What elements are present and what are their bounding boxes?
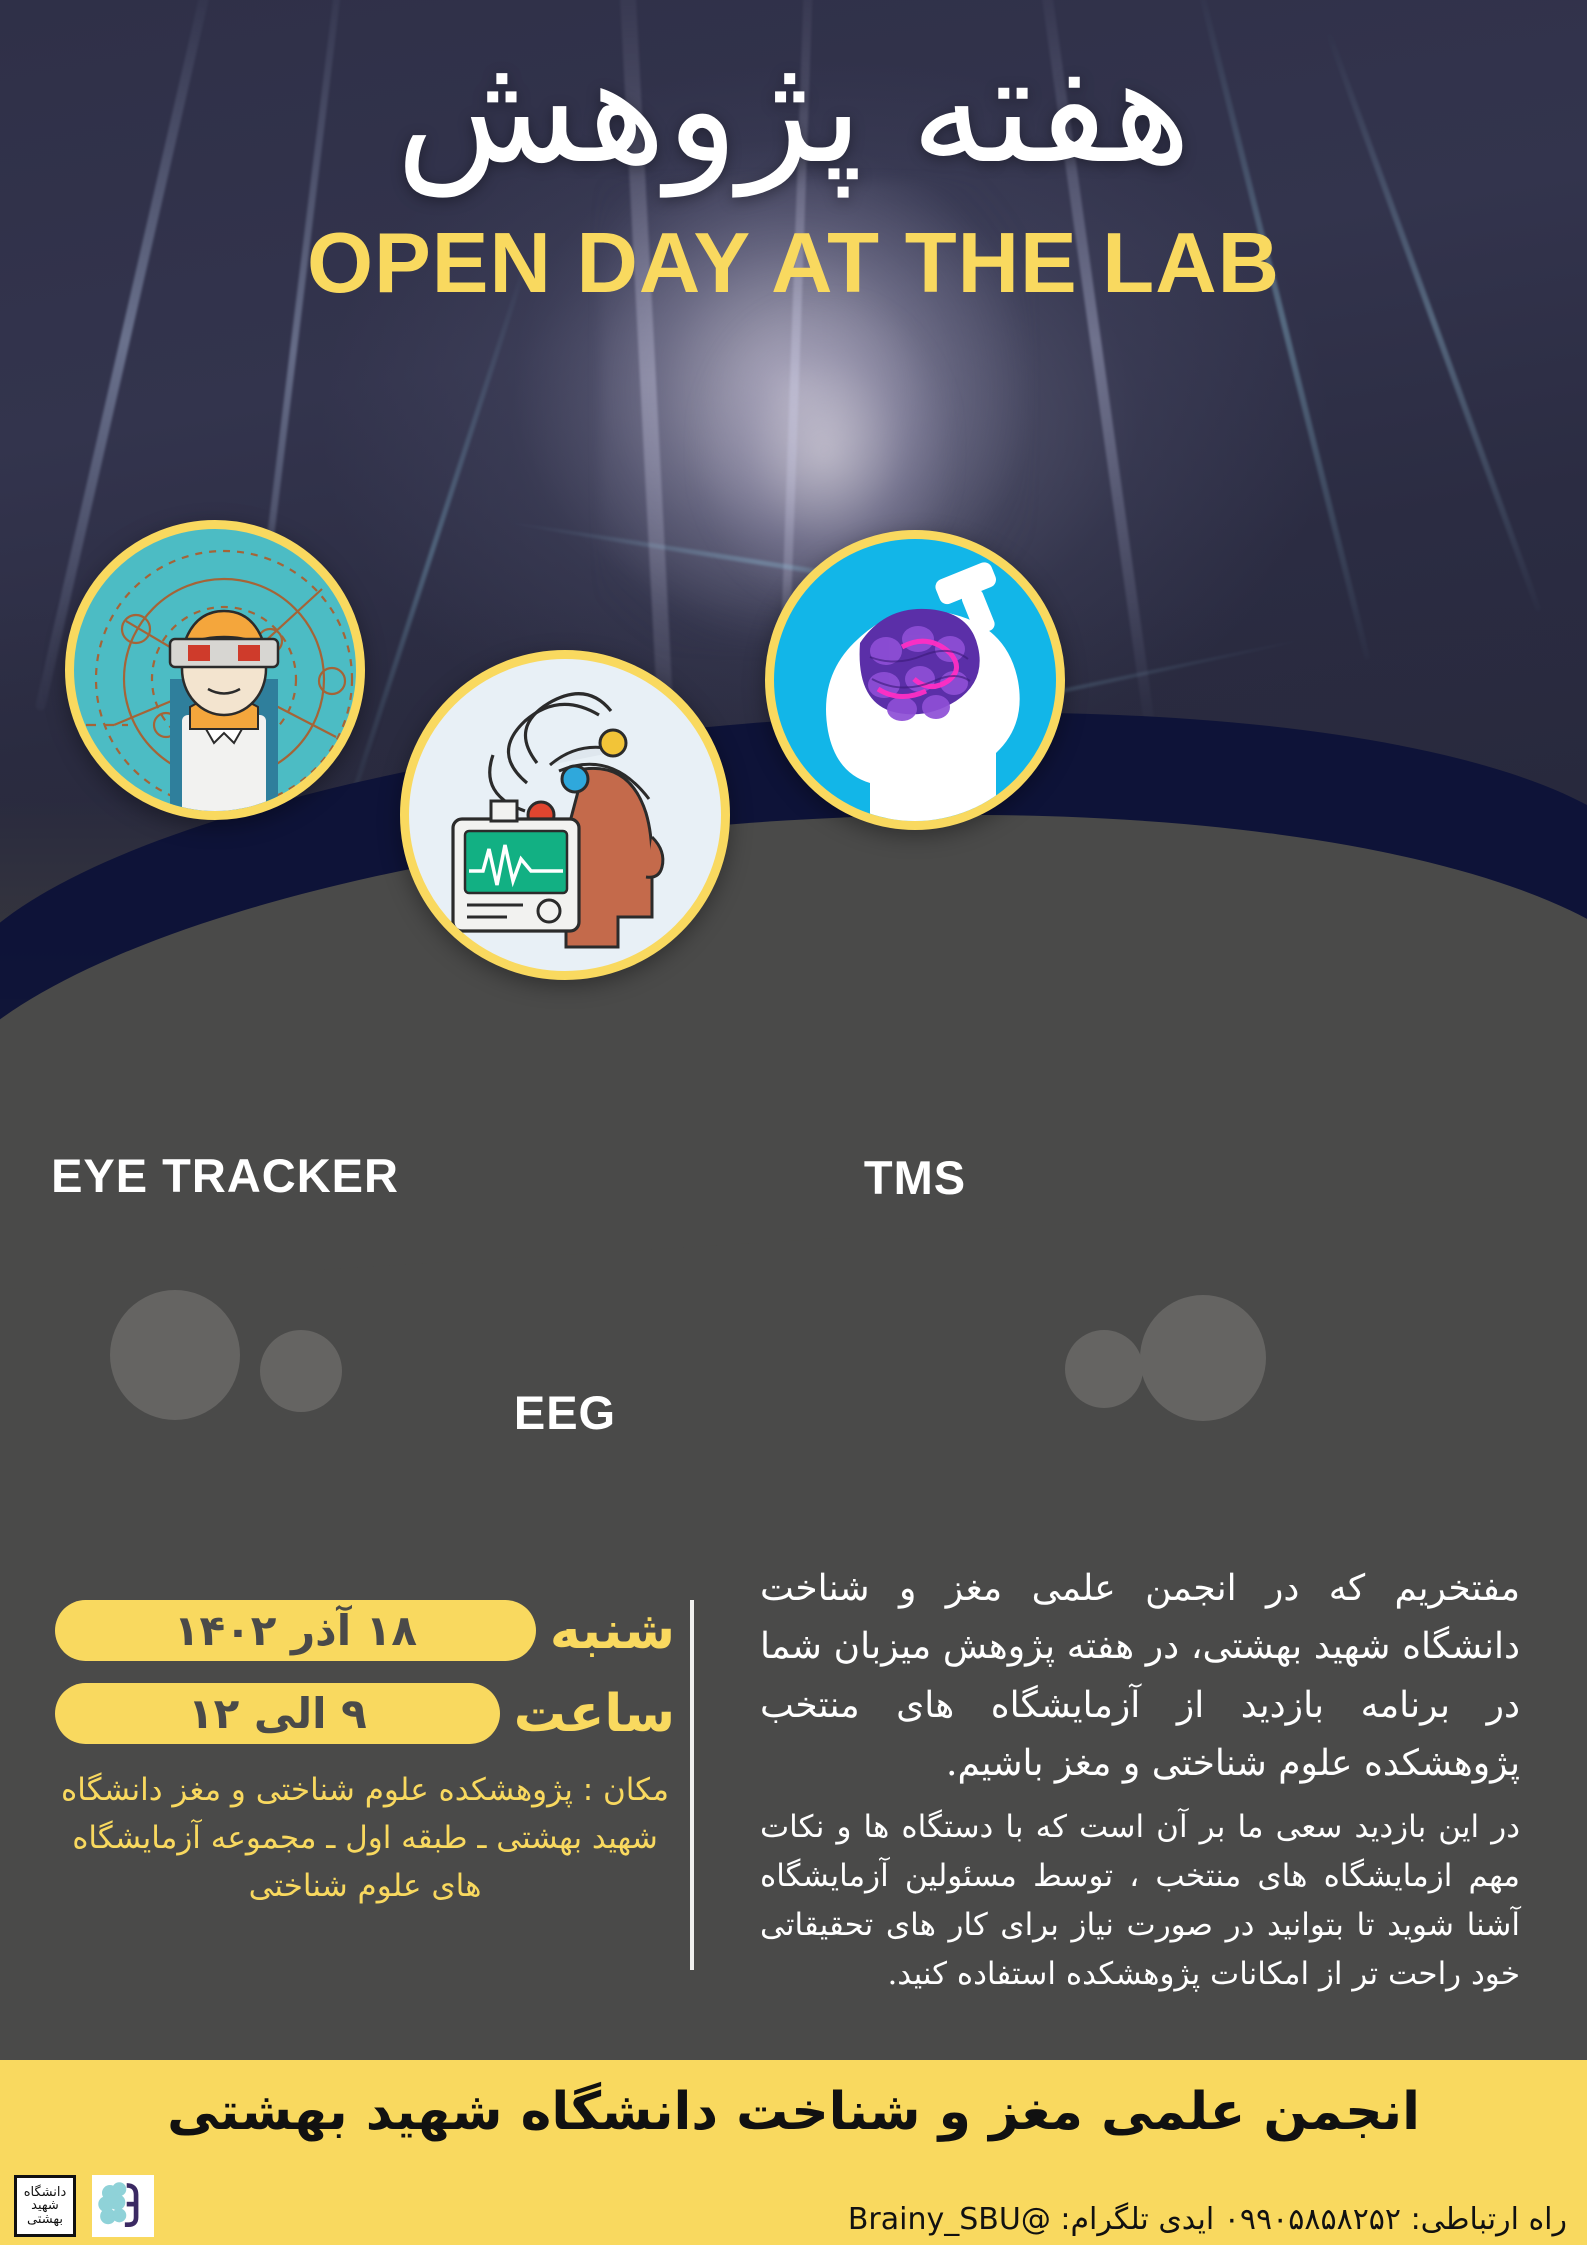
university-logo-text: دانشگاه شهید بهشتی (17, 2186, 73, 2227)
bokeh-dot (1140, 1295, 1266, 1421)
page-title-persian: هفته پژوهش (0, 24, 1587, 197)
eye-tracker-icon[interactable] (65, 520, 365, 820)
bokeh-dot (260, 1330, 342, 1412)
tms-icon[interactable] (765, 530, 1065, 830)
brain-glyph (95, 2178, 151, 2234)
organization-name: انجمن علمی مغز و شناخت دانشگاه شهید بهشت… (0, 2082, 1587, 2142)
description-block: مفتخریم که در انجمن علمی مغز و شناخت دان… (760, 1560, 1520, 1999)
university-logo-icon: دانشگاه شهید بهشتی (14, 2175, 76, 2237)
footer-band: انجمن علمی مغز و شناخت دانشگاه شهید بهشت… (0, 2060, 1587, 2245)
eye-tracker-label: EYE TRACKER (10, 1148, 440, 1203)
logo-group: دانشگاه شهید بهشتی (14, 2175, 154, 2237)
time-label: ساعت (514, 1684, 675, 1744)
poster-root: هفته پژوهش OPEN DAY AT THE LAB (0, 0, 1587, 2245)
day-label: شنبه (550, 1601, 675, 1661)
time-row: ساعت ۹ الی ۱۲ (55, 1683, 675, 1744)
eeg-label: EEG (390, 1385, 740, 1440)
bokeh-dot (1065, 1330, 1143, 1408)
bokeh-dot (110, 1290, 240, 1420)
page-title-english: OPEN DAY AT THE LAB (0, 215, 1587, 313)
description-paragraph-1: مفتخریم که در انجمن علمی مغز و شناخت دان… (760, 1560, 1520, 1793)
brain-logo-icon (92, 2175, 154, 2237)
time-pill: ۹ الی ۱۲ (55, 1683, 500, 1744)
schedule-block: شنبه ۱۸ آذر ۱۴۰۲ ساعت ۹ الی ۱۲ مکان : پژ… (55, 1600, 675, 1910)
location-text: مکان : پژوهشکده علوم شناختی و مغز دانشگا… (55, 1766, 675, 1910)
description-paragraph-2: در این بازدید سعی ما بر آن است که با دست… (760, 1803, 1520, 1999)
date-pill: ۱۸ آذر ۱۴۰۲ (55, 1600, 536, 1661)
tms-label: TMS (760, 1150, 1070, 1205)
eeg-icon[interactable] (400, 650, 730, 980)
contact-info[interactable]: راه ارتباطی: ۰۹۹۰۵۸۵۸۲۵۲ ایدی تلگرام: @B… (848, 2202, 1567, 2237)
vertical-divider (690, 1600, 694, 1970)
date-row: شنبه ۱۸ آذر ۱۴۰۲ (55, 1600, 675, 1661)
